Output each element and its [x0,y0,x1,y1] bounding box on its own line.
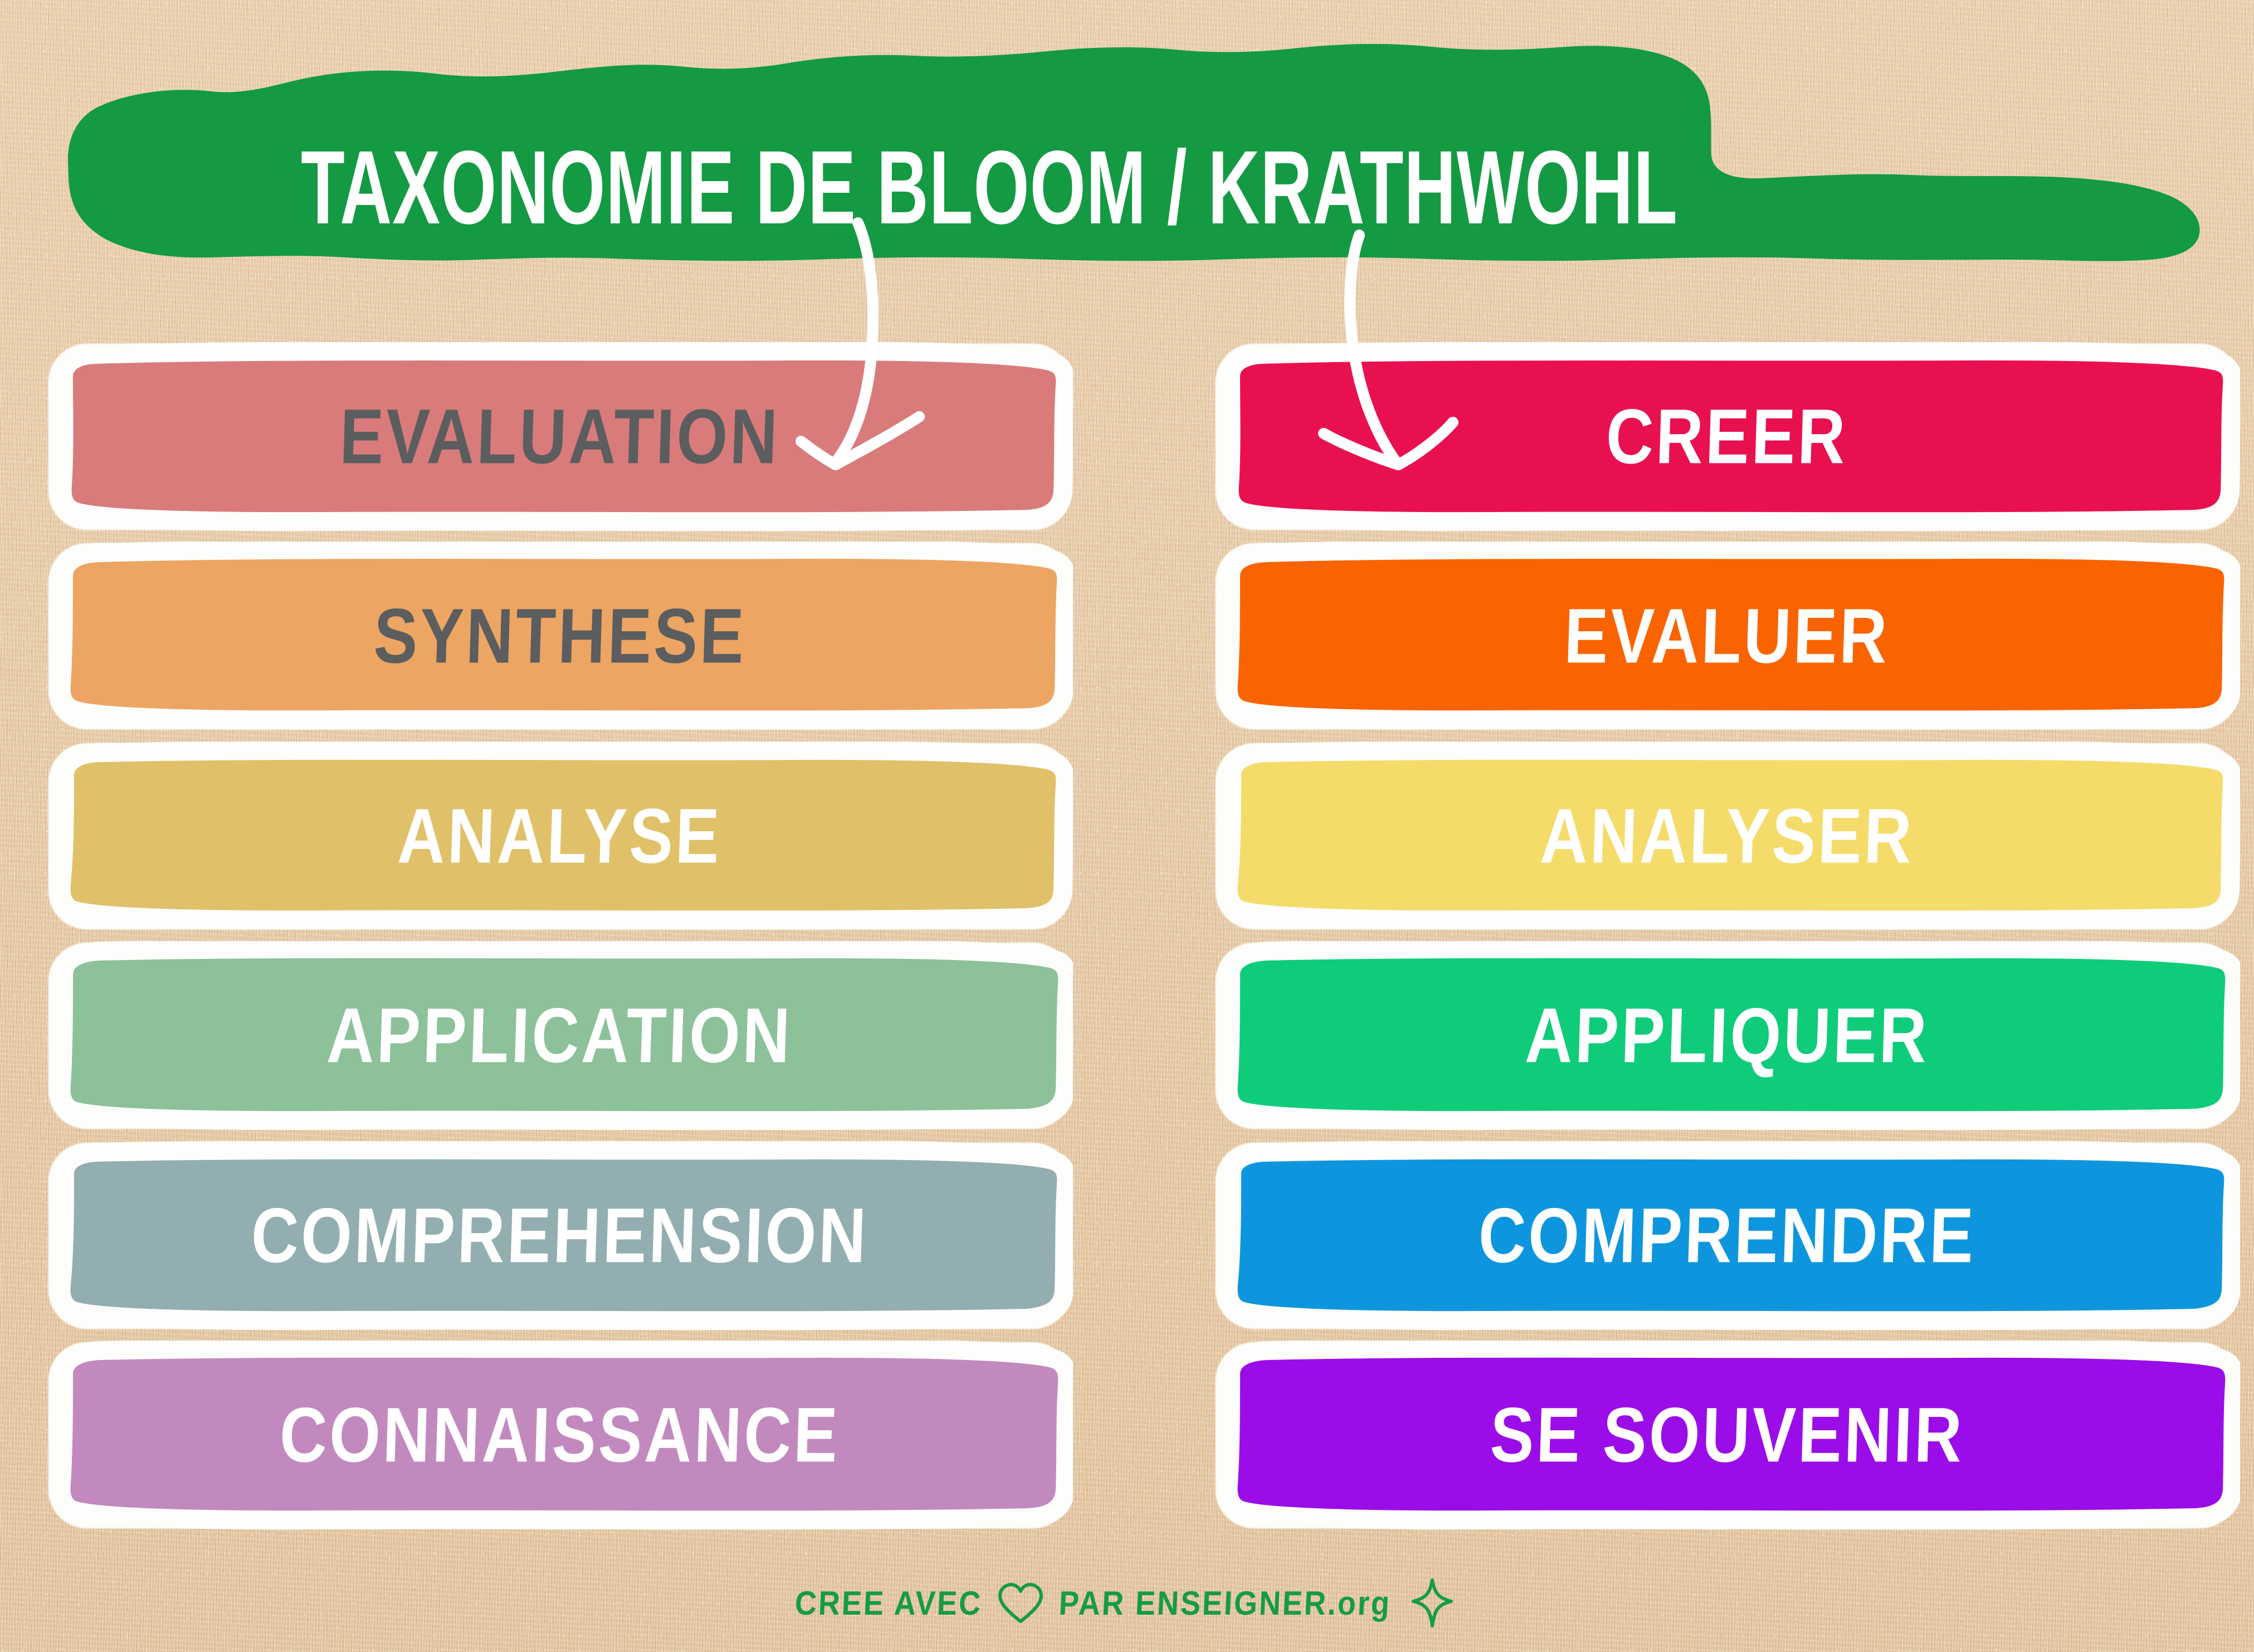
level-bar-appliquer[interactable]: APPLIQUER [1228,956,2226,1116]
level-bar-comprendre[interactable]: COMPRENDRE [1228,1156,2226,1316]
bar-label: ANALYSER [1539,797,1915,875]
footer-text-after: PAR ENSEIGNER.org [1058,1584,1392,1622]
star-sparkle-icon [1406,1577,1459,1630]
bar-label: CONNAISSANCE [279,1396,841,1474]
level-bar-analyser[interactable]: ANALYSER [1228,756,2226,917]
bar-label: CREER [1605,398,1848,475]
bar-label: EVALUATION [339,398,781,475]
level-bar-comprehension[interactable]: COMPREHENSION [61,1156,1058,1316]
bar-label: APPLIQUER [1524,997,1930,1075]
footer-text-before: CREE AVEC [794,1584,983,1622]
column-bloom-original: EVALUATION SYNTHESE ANALYSE [61,357,1058,1515]
page-title: TAXONOMIE DE BLOOM / KRATHWOHL [301,127,1546,247]
title-banner: TAXONOMIE DE BLOOM / KRATHWOHL [45,39,2206,262]
heart-icon [997,1582,1045,1625]
level-bar-analyse[interactable]: ANALYSE [61,756,1058,917]
level-bar-synthese[interactable]: SYNTHESE [61,556,1058,717]
bar-label: COMPRENDRE [1477,1197,1977,1274]
footer-credit: CREE AVEC PAR ENSEIGNER.org [0,1577,2254,1630]
taxonomy-columns: EVALUATION SYNTHESE ANALYSE [0,357,2254,1515]
column-krathwohl-revised: CREER EVALUER ANALYSER [1228,357,2226,1515]
level-bar-connaissance[interactable]: CONNAISSANCE [61,1355,1058,1515]
level-bar-evaluer[interactable]: EVALUER [1228,556,2226,717]
level-bar-evaluation[interactable]: EVALUATION [61,357,1058,517]
bar-label: EVALUER [1563,598,1890,675]
bar-label: SYNTHESE [373,598,747,675]
bar-label: COMPREHENSION [250,1197,870,1274]
bar-label: SE SOUVENIR [1489,1396,1965,1474]
level-bar-application[interactable]: APPLICATION [61,956,1058,1116]
bar-label: APPLICATION [326,997,793,1075]
level-bar-se-souvenir[interactable]: SE SOUVENIR [1228,1355,2226,1515]
bar-label: ANALYSE [397,797,723,875]
level-bar-creer[interactable]: CREER [1228,357,2226,517]
